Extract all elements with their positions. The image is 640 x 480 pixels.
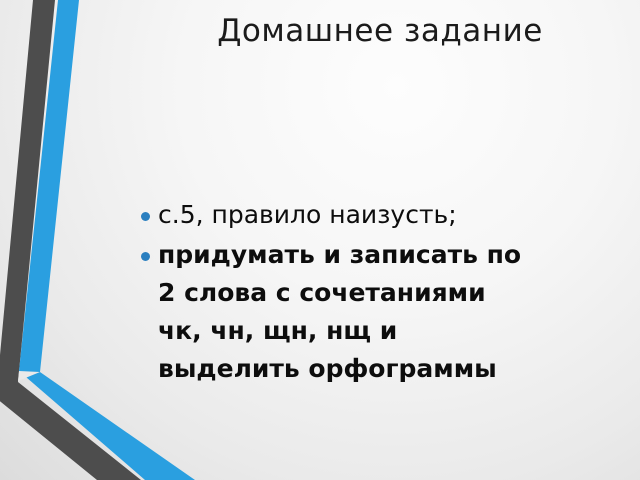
list-item-line-2: 2 слова с сочетаниями [158,274,600,312]
page-title: Домашнее задание [130,14,630,50]
list-item-line-4: выделить орфограммы [158,350,600,388]
list-item-line-3: чк, чн, щн, нщ и [158,312,600,350]
list-item-line-1: придумать и записать по [158,236,600,274]
presentation-slide: Домашнее задание с.5, правило наизусть; … [0,0,640,480]
stripe-bend-notch [18,371,40,381]
list-item: с.5, правило наизусть; [140,196,600,234]
homework-bullet-list: с.5, правило наизусть; придумать и запис… [140,196,600,390]
list-item-label: с.5, правило наизусть; [158,196,600,234]
dark-accent-stripe [0,0,141,480]
round-bullet-icon [141,252,150,261]
round-bullet-icon [141,212,150,221]
list-item: придумать и записать по 2 слова с сочета… [140,236,600,388]
